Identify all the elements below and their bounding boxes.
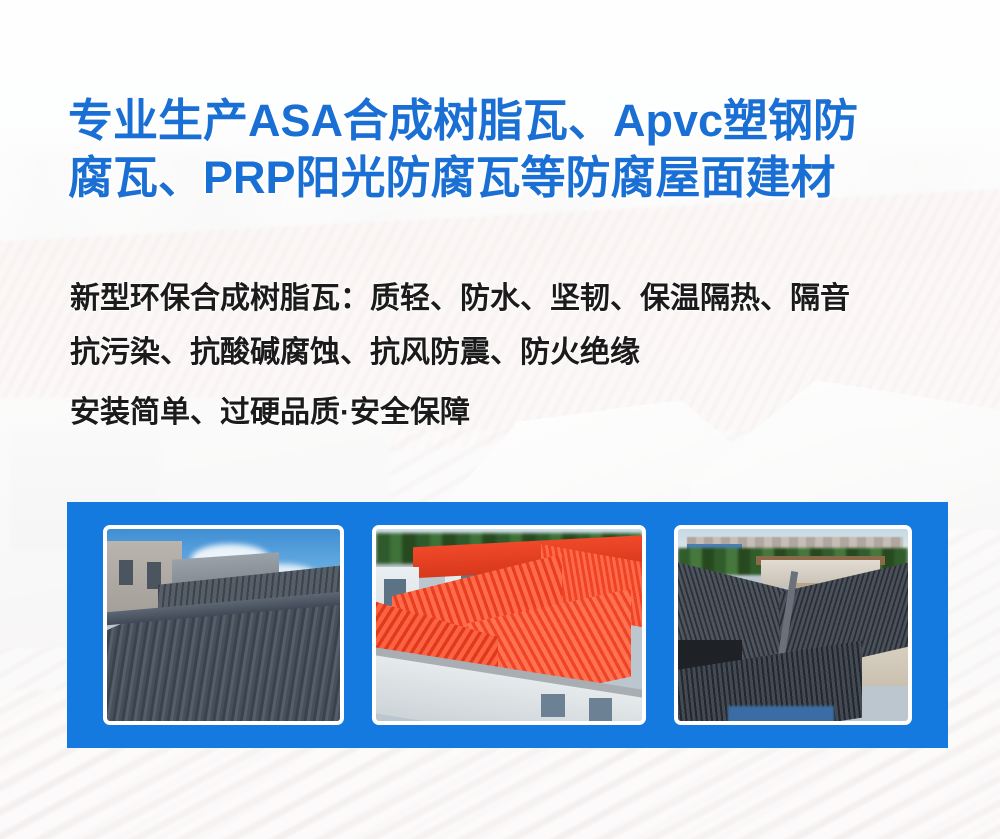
photo-row: [67, 502, 948, 748]
subtitle-line-1: 新型环保合成树脂瓦：质轻、防水、坚韧、保温隔热、隔音: [70, 272, 960, 326]
photo-2-front-window-2: [589, 698, 613, 721]
photo-3-image: [678, 529, 908, 721]
photo-1-window: [119, 560, 133, 585]
gallery-photo-dark-grey-ribbed-roof[interactable]: [674, 525, 912, 725]
product-banner: 专业生产ASA合成树脂瓦、Apvc塑钢防 腐瓦、PRP阳光防腐瓦等防腐屋面建材 …: [0, 0, 1000, 839]
gallery-panel: [67, 502, 948, 748]
subtitle-block: 新型环保合成树脂瓦：质轻、防水、坚韧、保温隔热、隔音 抗污染、抗酸碱腐蚀、抗风防…: [70, 272, 960, 440]
subtitle-line-2: 抗污染、抗酸碱腐蚀、抗风防震、防火绝缘: [70, 326, 960, 380]
gallery-photo-grey-barrel-tile-roof[interactable]: [103, 525, 344, 725]
headline: 专业生产ASA合成树脂瓦、Apvc塑钢防 腐瓦、PRP阳光防腐瓦等防腐屋面建材: [68, 92, 958, 206]
photo-3-blue-tarp: [728, 706, 834, 721]
photo-2-front-window: [541, 694, 565, 717]
photo-2-image: [376, 529, 641, 721]
banner-content: 专业生产ASA合成树脂瓦、Apvc塑钢防 腐瓦、PRP阳光防腐瓦等防腐屋面建材 …: [0, 0, 1000, 839]
photo-1-image: [107, 529, 340, 721]
subtitle-line-3: 安装简单、过硬品质·安全保障: [70, 386, 960, 440]
gallery-photo-red-tile-roof[interactable]: [372, 525, 645, 725]
